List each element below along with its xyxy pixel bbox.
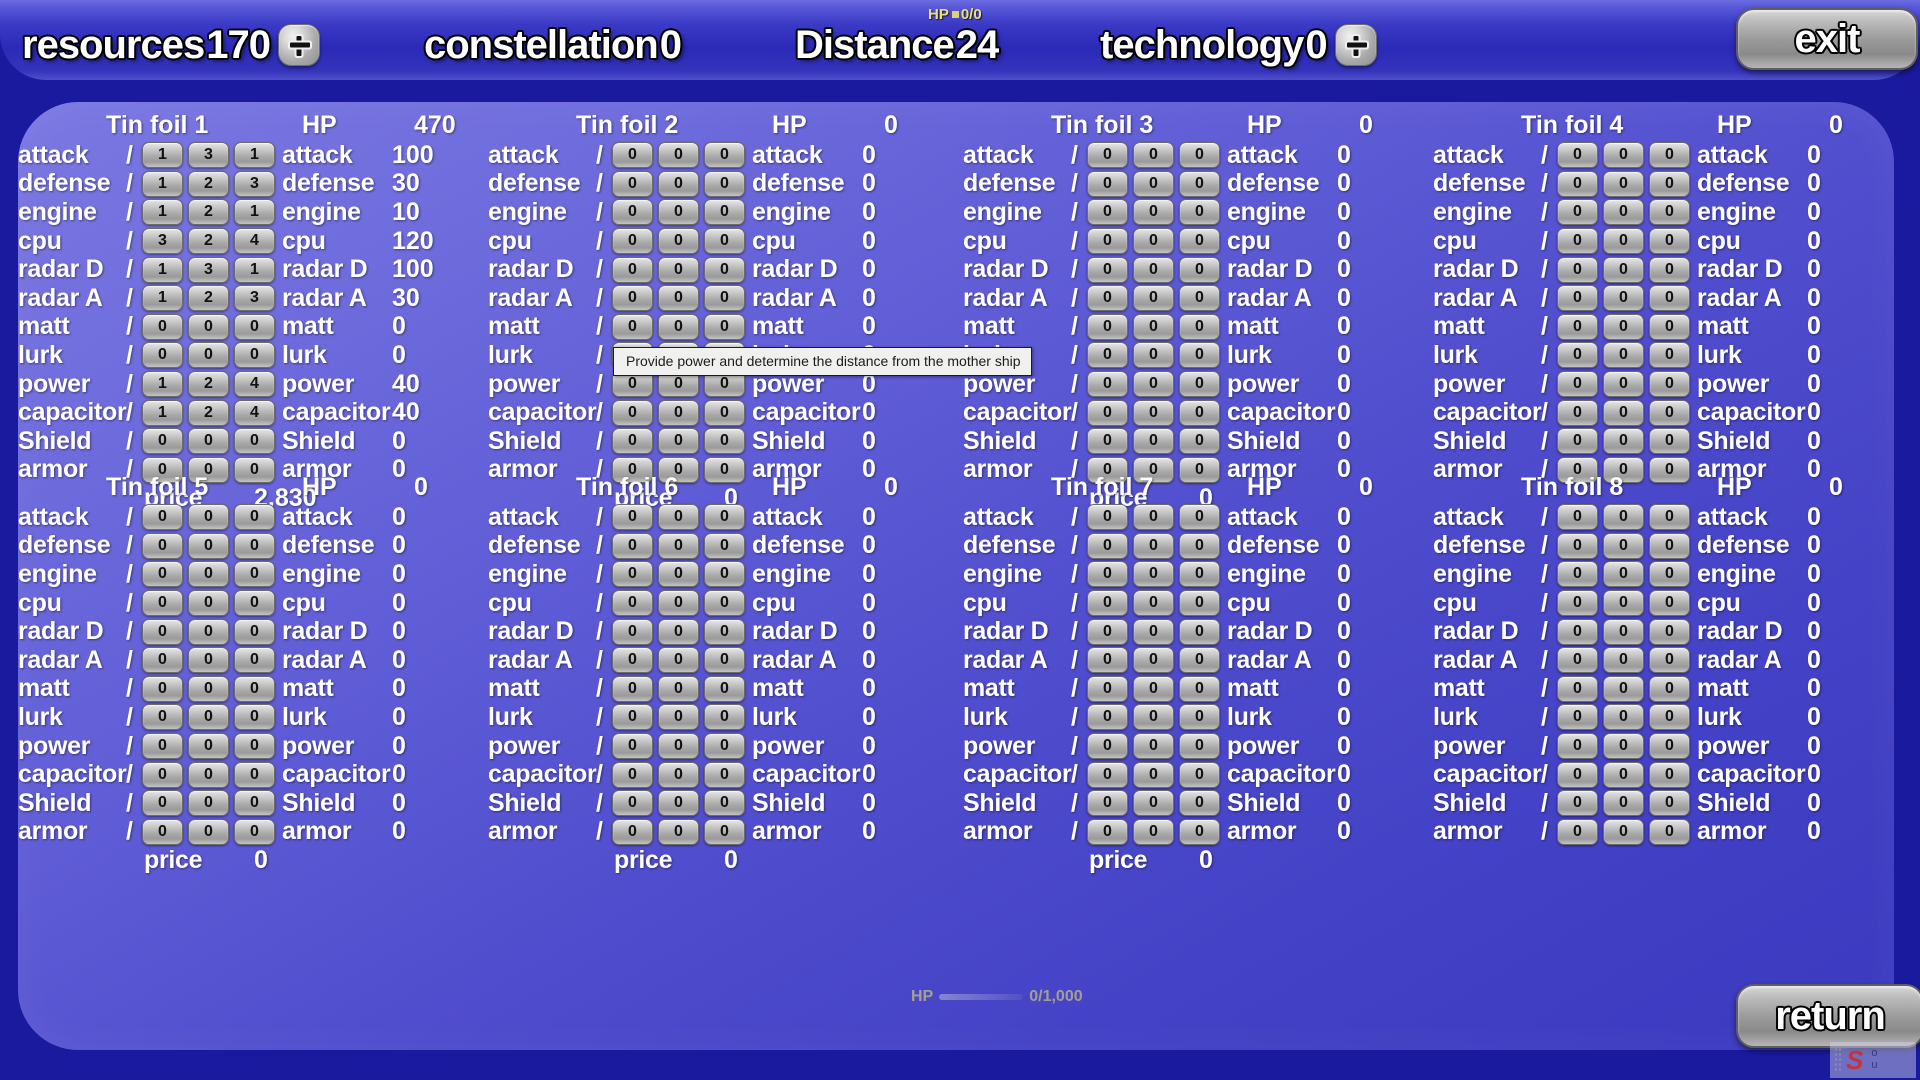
- ship-stat-chip[interactable]: 0: [658, 504, 699, 530]
- ship-stat-chip[interactable]: 0: [1603, 647, 1644, 673]
- ship-stat-chip[interactable]: 0: [142, 762, 183, 788]
- ship-stat-chip[interactable]: 0: [704, 533, 745, 559]
- ship-stat-chip[interactable]: 0: [1179, 733, 1220, 759]
- ship-stat-chip[interactable]: 0: [188, 533, 229, 559]
- ship-stat-chip[interactable]: 0: [1557, 533, 1598, 559]
- ship-stat-chip[interactable]: 1: [142, 171, 183, 197]
- ship-stat-chip[interactable]: 0: [1557, 428, 1598, 454]
- ship-stat-chip[interactable]: 0: [1649, 619, 1690, 645]
- ship-stat-chip[interactable]: 0: [1603, 428, 1644, 454]
- ship-stat-chip[interactable]: 0: [704, 619, 745, 645]
- ship-stat-chip[interactable]: 2: [188, 285, 229, 311]
- ship-stat-chip[interactable]: 0: [658, 400, 699, 426]
- ship-stat-chip[interactable]: 0: [1649, 314, 1690, 340]
- ship-stat-chip[interactable]: 1: [142, 371, 183, 397]
- ship-stat-chip[interactable]: 0: [188, 428, 229, 454]
- ship-stat-chip[interactable]: 0: [658, 533, 699, 559]
- ship-stat-chip[interactable]: 0: [612, 790, 653, 816]
- ship-stat-chip[interactable]: 1: [142, 285, 183, 311]
- ship-stat-chip[interactable]: 0: [612, 561, 653, 587]
- ship-stat-chip[interactable]: 0: [1087, 762, 1128, 788]
- ship-stat-chip[interactable]: 0: [658, 171, 699, 197]
- ship-stat-chip[interactable]: 1: [234, 199, 275, 225]
- ship-stat-chip[interactable]: 0: [612, 400, 653, 426]
- ship-stat-chip[interactable]: 0: [1133, 533, 1174, 559]
- ship-stat-chip[interactable]: 0: [612, 704, 653, 730]
- ship-stat-chip[interactable]: 0: [1179, 342, 1220, 368]
- ship-stat-chip[interactable]: 0: [142, 790, 183, 816]
- add-technology-button[interactable]: [1335, 24, 1377, 66]
- ship-stat-chip[interactable]: 4: [234, 400, 275, 426]
- ship-stat-chip[interactable]: 2: [188, 199, 229, 225]
- ship-stat-chip[interactable]: 0: [1603, 257, 1644, 283]
- ship-stat-chip[interactable]: 0: [704, 428, 745, 454]
- ship-stat-chip[interactable]: 0: [1179, 590, 1220, 616]
- ship-stat-chip[interactable]: 0: [1179, 676, 1220, 702]
- ship-stat-chip[interactable]: 0: [1649, 171, 1690, 197]
- ship-stat-chip[interactable]: 0: [1603, 199, 1644, 225]
- ship-stat-chip[interactable]: 0: [704, 790, 745, 816]
- ship-stat-chip[interactable]: 0: [704, 199, 745, 225]
- ship-summary-value: 0: [1807, 531, 1821, 560]
- ship-stat-chip[interactable]: 0: [1603, 790, 1644, 816]
- ship-stat-chip[interactable]: 0: [1087, 704, 1128, 730]
- ship-stat-chip[interactable]: 0: [142, 619, 183, 645]
- ship-stat-chip[interactable]: 0: [1557, 371, 1598, 397]
- ship-stat-chip[interactable]: 0: [1179, 285, 1220, 311]
- ship-stat-chip[interactable]: 0: [188, 561, 229, 587]
- ship-stat-chip[interactable]: 0: [188, 676, 229, 702]
- ship-stat-chip[interactable]: 0: [704, 647, 745, 673]
- ship-stat-chip[interactable]: 0: [1603, 819, 1644, 845]
- ship-stat-chip[interactable]: 0: [1133, 400, 1174, 426]
- ship-stat-chip[interactable]: 0: [1179, 371, 1220, 397]
- ship-stat-chip[interactable]: 0: [234, 619, 275, 645]
- ship-stat-chip[interactable]: 0: [234, 647, 275, 673]
- add-resources-button[interactable]: [278, 24, 320, 66]
- ship-stat-row: engine/000engine0: [18, 560, 478, 589]
- ship-stat-chip-group: 124: [142, 371, 280, 397]
- ship-stat-chip[interactable]: 0: [1603, 171, 1644, 197]
- ship-stat-chip[interactable]: 4: [234, 228, 275, 254]
- ship-stat-chip[interactable]: 0: [234, 733, 275, 759]
- ship-stat-chip[interactable]: 0: [612, 733, 653, 759]
- ship-stat-chip[interactable]: 0: [1179, 504, 1220, 530]
- ship-stat-chip[interactable]: 0: [1179, 561, 1220, 587]
- ship-stat-chip[interactable]: 0: [1603, 590, 1644, 616]
- ship-stat-chip[interactable]: 1: [142, 142, 183, 168]
- ship-stat-chip[interactable]: 0: [658, 142, 699, 168]
- ship-stat-chip[interactable]: 3: [234, 285, 275, 311]
- ship-stat-chip[interactable]: 0: [1557, 590, 1598, 616]
- ship-stat-chip[interactable]: 0: [188, 314, 229, 340]
- ship-stat-row: matt/000matt0: [1433, 313, 1893, 342]
- ship-stat-chip[interactable]: 0: [1087, 504, 1128, 530]
- ship-stat-chip[interactable]: 0: [1557, 762, 1598, 788]
- ship-stat-chip[interactable]: 0: [704, 142, 745, 168]
- ship-stat-chip[interactable]: 1: [142, 400, 183, 426]
- ship-stat-chip[interactable]: 0: [234, 314, 275, 340]
- ship-stat-chip[interactable]: 0: [658, 704, 699, 730]
- ship-stat-chip[interactable]: 0: [1649, 676, 1690, 702]
- ship-panel-grid: Tin foil 1HP470attack/131attack100defens…: [18, 102, 1894, 1050]
- ship-stat-chip[interactable]: 0: [142, 676, 183, 702]
- ship-stat-chip[interactable]: 0: [1133, 733, 1174, 759]
- ship-stat-chip[interactable]: 0: [1087, 400, 1128, 426]
- ship-stat-chip[interactable]: 0: [1557, 285, 1598, 311]
- ship-stat-name: radar D: [488, 255, 596, 284]
- ship-stat-chip[interactable]: 0: [1557, 171, 1598, 197]
- ship-stat-chip[interactable]: 0: [1603, 371, 1644, 397]
- ship-stat-chip[interactable]: 2: [188, 400, 229, 426]
- ship-stat-chip[interactable]: 0: [612, 285, 653, 311]
- ship-stat-chip[interactable]: 0: [1179, 704, 1220, 730]
- ship-stat-chip[interactable]: 0: [1087, 819, 1128, 845]
- ship-stat-chip[interactable]: 0: [658, 790, 699, 816]
- ship-panel-title: Tin foil 8: [1521, 472, 1717, 503]
- ship-stat-chip[interactable]: 0: [1087, 228, 1128, 254]
- ship-stat-chip[interactable]: 0: [142, 704, 183, 730]
- ship-stat-chip[interactable]: 0: [1087, 619, 1128, 645]
- ship-stat-chip[interactable]: 0: [1557, 504, 1598, 530]
- ship-stat-row: cpu/000cpu0: [963, 227, 1423, 256]
- ship-stat-chip[interactable]: 0: [1603, 704, 1644, 730]
- ship-stat-chip[interactable]: 0: [1649, 199, 1690, 225]
- ship-stat-chip[interactable]: 0: [1603, 733, 1644, 759]
- ship-stat-chip[interactable]: 3: [234, 171, 275, 197]
- ship-stat-chip[interactable]: 0: [1649, 371, 1690, 397]
- ship-stat-chip[interactable]: 0: [1603, 533, 1644, 559]
- ship-stat-chip[interactable]: 0: [1133, 228, 1174, 254]
- ship-stat-chip[interactable]: 2: [188, 371, 229, 397]
- ship-stat-chip[interactable]: 3: [142, 228, 183, 254]
- ship-stat-chip[interactable]: 0: [1603, 504, 1644, 530]
- ship-stat-chip[interactable]: 0: [704, 504, 745, 530]
- ship-stat-chip[interactable]: 0: [658, 590, 699, 616]
- ship-stat-chip[interactable]: 0: [1649, 647, 1690, 673]
- ship-stat-chip[interactable]: 0: [1603, 342, 1644, 368]
- ship-stat-chip[interactable]: 0: [1557, 142, 1598, 168]
- ship-stat-chip[interactable]: 0: [612, 428, 653, 454]
- ship-stat-chip[interactable]: 0: [658, 676, 699, 702]
- ship-stat-chip[interactable]: 0: [1087, 676, 1128, 702]
- exit-button[interactable]: exit: [1736, 8, 1918, 70]
- ship-stat-chip[interactable]: 0: [1557, 676, 1598, 702]
- ship-stat-chip[interactable]: 0: [1087, 533, 1128, 559]
- ship-stat-chip[interactable]: 0: [234, 790, 275, 816]
- ship-stat-chip[interactable]: 0: [234, 504, 275, 530]
- ship-summary-key: capacitor: [1225, 760, 1337, 789]
- ship-stat-chip[interactable]: 0: [612, 228, 653, 254]
- ship-stat-chip[interactable]: 0: [1087, 561, 1128, 587]
- ship-stat-chip[interactable]: 0: [1087, 285, 1128, 311]
- ship-stat-chip[interactable]: 0: [658, 228, 699, 254]
- ship-stat-chip[interactable]: 0: [1087, 590, 1128, 616]
- ship-stat-chip[interactable]: 0: [704, 733, 745, 759]
- ship-stat-chip[interactable]: 0: [188, 704, 229, 730]
- ship-stat-chip[interactable]: 0: [234, 762, 275, 788]
- ship-stat-chip[interactable]: 0: [612, 314, 653, 340]
- ship-stat-chip[interactable]: 0: [1557, 314, 1598, 340]
- ship-stat-chip[interactable]: 0: [1649, 533, 1690, 559]
- ship-stat-chip[interactable]: 0: [1649, 428, 1690, 454]
- ship-panel-header: Tin foil 7HP0: [963, 472, 1423, 503]
- ship-stat-chip[interactable]: 0: [1133, 619, 1174, 645]
- ship-stat-chip[interactable]: 0: [658, 733, 699, 759]
- ship-stat-chip[interactable]: 0: [704, 257, 745, 283]
- ship-stat-chip[interactable]: 0: [142, 733, 183, 759]
- ship-stat-chip[interactable]: 0: [1133, 285, 1174, 311]
- ship-stat-chip[interactable]: 0: [658, 257, 699, 283]
- ship-stat-chip[interactable]: 0: [1557, 228, 1598, 254]
- ship-stat-chip[interactable]: 0: [142, 504, 183, 530]
- ship-stat-chip[interactable]: 2: [188, 228, 229, 254]
- ship-stat-chip[interactable]: 0: [704, 400, 745, 426]
- ship-stat-chip[interactable]: 0: [612, 199, 653, 225]
- ship-stat-chip[interactable]: 1: [234, 257, 275, 283]
- ship-stat-chip[interactable]: 0: [1649, 257, 1690, 283]
- ship-stat-chip[interactable]: 0: [704, 676, 745, 702]
- ship-stat-chip[interactable]: 0: [1179, 428, 1220, 454]
- ship-stat-chip[interactable]: 0: [612, 504, 653, 530]
- ship-stat-chip[interactable]: 0: [1133, 257, 1174, 283]
- ship-stat-chip[interactable]: 0: [1557, 342, 1598, 368]
- return-button[interactable]: return: [1736, 984, 1920, 1048]
- ship-stat-chip[interactable]: 0: [704, 704, 745, 730]
- ship-stat-chip[interactable]: 0: [1133, 199, 1174, 225]
- ship-stat-chip[interactable]: 4: [234, 371, 275, 397]
- ship-stat-chip[interactable]: 3: [188, 142, 229, 168]
- stat-separator: /: [596, 560, 612, 589]
- ship-stat-chip[interactable]: 0: [1649, 285, 1690, 311]
- ship-stat-chip[interactable]: 0: [1649, 561, 1690, 587]
- ship-stat-chip[interactable]: 0: [1179, 533, 1220, 559]
- ship-stat-chip[interactable]: 0: [1133, 704, 1174, 730]
- ship-stat-chip[interactable]: 0: [188, 619, 229, 645]
- ship-stat-chip[interactable]: 0: [234, 428, 275, 454]
- ship-stat-chip[interactable]: 0: [234, 704, 275, 730]
- ship-stat-chip[interactable]: 0: [1649, 228, 1690, 254]
- ship-stat-chip[interactable]: 0: [1133, 819, 1174, 845]
- ship-summary-key: power: [1695, 370, 1807, 399]
- ship-stat-chip[interactable]: 0: [1133, 590, 1174, 616]
- ship-stat-chip[interactable]: 0: [1087, 790, 1128, 816]
- ship-stat-chip[interactable]: 0: [704, 285, 745, 311]
- ship-stat-chip[interactable]: 0: [1179, 257, 1220, 283]
- ship-stat-chip[interactable]: 0: [612, 533, 653, 559]
- ship-stat-chip[interactable]: 0: [234, 590, 275, 616]
- ship-stat-chip[interactable]: 0: [1133, 371, 1174, 397]
- ship-stat-chip[interactable]: 0: [704, 314, 745, 340]
- ship-stat-chip[interactable]: 0: [1649, 704, 1690, 730]
- ship-stat-chip[interactable]: 0: [142, 342, 183, 368]
- ship-stat-chip[interactable]: 0: [1603, 285, 1644, 311]
- ship-stat-chip[interactable]: 0: [1603, 619, 1644, 645]
- ship-stat-chip[interactable]: 0: [188, 342, 229, 368]
- ship-stat-chip[interactable]: 0: [658, 314, 699, 340]
- ship-stat-chip[interactable]: 0: [142, 819, 183, 845]
- ship-stat-chip[interactable]: 0: [612, 762, 653, 788]
- ship-stat-chip[interactable]: 0: [1133, 790, 1174, 816]
- ship-panel-header: Tin foil 4HP0: [1433, 110, 1893, 141]
- ship-stat-chip[interactable]: 0: [1649, 400, 1690, 426]
- ship-stat-chip[interactable]: 0: [1557, 647, 1598, 673]
- ship-stat-chip[interactable]: 0: [658, 561, 699, 587]
- ship-stat-chip[interactable]: 0: [1087, 199, 1128, 225]
- ship-stat-chip[interactable]: 0: [1133, 561, 1174, 587]
- ship-stat-chip[interactable]: 0: [1649, 342, 1690, 368]
- ship-stat-chip[interactable]: 0: [142, 533, 183, 559]
- ship-stat-chip[interactable]: 0: [1179, 619, 1220, 645]
- ship-stat-chip[interactable]: 0: [234, 819, 275, 845]
- ship-stat-chip[interactable]: 0: [1087, 342, 1128, 368]
- ship-stat-chip[interactable]: 0: [1649, 790, 1690, 816]
- ship-stat-chip[interactable]: 0: [1649, 733, 1690, 759]
- ship-stat-chip[interactable]: 0: [1557, 619, 1598, 645]
- ship-stat-chip[interactable]: 0: [1179, 171, 1220, 197]
- ship-stat-chip[interactable]: 0: [612, 590, 653, 616]
- ship-stat-chip[interactable]: 0: [704, 819, 745, 845]
- ship-stat-chip[interactable]: 0: [1087, 733, 1128, 759]
- ship-stat-chip[interactable]: 0: [658, 619, 699, 645]
- ship-stat-chip[interactable]: 0: [1087, 647, 1128, 673]
- ship-stat-chip[interactable]: 0: [188, 819, 229, 845]
- ship-stat-chip[interactable]: 0: [1557, 257, 1598, 283]
- ship-stat-chip[interactable]: 0: [612, 647, 653, 673]
- ship-stat-name: defense: [1433, 531, 1541, 560]
- ship-stat-chip[interactable]: 0: [1087, 257, 1128, 283]
- ship-stat-chip[interactable]: 3: [188, 257, 229, 283]
- ship-stat-chip[interactable]: 0: [1557, 704, 1598, 730]
- ship-stat-chip[interactable]: 0: [1557, 819, 1598, 845]
- ship-summary-key: cpu: [1695, 227, 1807, 256]
- ship-stat-chip[interactable]: 0: [142, 590, 183, 616]
- ship-stat-chip[interactable]: 0: [1087, 142, 1128, 168]
- ship-stat-chip[interactable]: 0: [658, 199, 699, 225]
- ship-stat-chip[interactable]: 0: [704, 171, 745, 197]
- ship-stat-chip[interactable]: 0: [142, 314, 183, 340]
- ship-stat-chip[interactable]: 0: [1179, 790, 1220, 816]
- ship-stat-chip[interactable]: 0: [1087, 314, 1128, 340]
- ship-stat-chip[interactable]: 0: [1603, 762, 1644, 788]
- ship-stat-chip[interactable]: 0: [1133, 142, 1174, 168]
- ship-stat-chip[interactable]: 0: [1133, 647, 1174, 673]
- ship-stat-chip[interactable]: 0: [612, 142, 653, 168]
- ship-stat-chip[interactable]: 0: [612, 257, 653, 283]
- ship-stat-chip[interactable]: 0: [612, 819, 653, 845]
- ship-stat-chip[interactable]: 0: [1557, 790, 1598, 816]
- ship-stat-chip[interactable]: 0: [1133, 342, 1174, 368]
- ship-stat-chip[interactable]: 0: [612, 676, 653, 702]
- ship-stat-chip[interactable]: 0: [1179, 314, 1220, 340]
- ship-stat-chip[interactable]: 0: [704, 561, 745, 587]
- ship-stat-chip[interactable]: 0: [1557, 733, 1598, 759]
- ship-stat-chip-group: 000: [142, 561, 280, 587]
- ship-stat-chip[interactable]: 2: [188, 171, 229, 197]
- ship-stat-row: Shield/000Shield0: [963, 427, 1423, 456]
- ship-stat-chip[interactable]: 0: [1557, 199, 1598, 225]
- ship-stat-chip[interactable]: 0: [1087, 171, 1128, 197]
- ship-summary-key: Shield: [750, 427, 862, 456]
- ship-stat-chip[interactable]: 0: [612, 171, 653, 197]
- ship-stat-chip[interactable]: 0: [1557, 400, 1598, 426]
- ship-stat-chip[interactable]: 0: [1557, 561, 1598, 587]
- ship-stat-chip[interactable]: 0: [1649, 142, 1690, 168]
- ship-stat-chip[interactable]: 0: [142, 428, 183, 454]
- ship-stat-chip[interactable]: 0: [234, 533, 275, 559]
- ship-stat-chip[interactable]: 0: [1603, 400, 1644, 426]
- ship-stat-chip-group: 000: [612, 647, 750, 673]
- ship-stat-chip[interactable]: 0: [1087, 428, 1128, 454]
- ship-stat-chip[interactable]: 0: [188, 733, 229, 759]
- ship-stat-chip[interactable]: 1: [142, 257, 183, 283]
- ship-stat-chip[interactable]: 0: [1603, 314, 1644, 340]
- ship-stat-chip[interactable]: 0: [1133, 314, 1174, 340]
- ship-stat-chip[interactable]: 0: [1649, 504, 1690, 530]
- ship-stat-chip[interactable]: 0: [142, 561, 183, 587]
- ship-stat-chip[interactable]: 0: [1179, 400, 1220, 426]
- ship-stat-chip[interactable]: 0: [188, 790, 229, 816]
- ship-stat-chip[interactable]: 0: [1603, 561, 1644, 587]
- ship-stat-chip[interactable]: 0: [1133, 504, 1174, 530]
- ship-stat-chip[interactable]: 0: [1603, 228, 1644, 254]
- ship-stat-chip-group: 121: [142, 199, 280, 225]
- ship-panel-title: Tin foil 2: [576, 110, 772, 141]
- ship-stat-chip[interactable]: 0: [1179, 142, 1220, 168]
- ship-stat-chip[interactable]: 0: [1179, 228, 1220, 254]
- ship-stat-chip[interactable]: 0: [1087, 371, 1128, 397]
- ship-stat-chip[interactable]: 0: [234, 676, 275, 702]
- ship-stat-chip[interactable]: 0: [658, 285, 699, 311]
- ship-stat-chip[interactable]: 0: [704, 228, 745, 254]
- ship-stat-chip[interactable]: 0: [188, 504, 229, 530]
- ship-stat-chip[interactable]: 0: [234, 342, 275, 368]
- ship-stat-chip[interactable]: 0: [1133, 428, 1174, 454]
- ship-stat-chip[interactable]: 0: [1603, 676, 1644, 702]
- ship-stat-chip[interactable]: 0: [1179, 762, 1220, 788]
- ship-stat-chip[interactable]: 0: [1133, 762, 1174, 788]
- ship-summary-key: radar A: [750, 646, 862, 675]
- ship-stat-chip[interactable]: 0: [188, 590, 229, 616]
- ship-stat-chip[interactable]: 0: [1179, 647, 1220, 673]
- ship-stat-chip[interactable]: 0: [188, 762, 229, 788]
- ship-stat-chip[interactable]: 0: [658, 428, 699, 454]
- ship-stat-chip[interactable]: 0: [188, 647, 229, 673]
- stat-separator: /: [1071, 674, 1087, 703]
- ship-stat-chip[interactable]: 0: [704, 590, 745, 616]
- ship-stat-chip[interactable]: 0: [612, 619, 653, 645]
- ship-stat-chip[interactable]: 0: [1649, 819, 1690, 845]
- ship-stat-chip[interactable]: 0: [1603, 142, 1644, 168]
- ship-stat-chip[interactable]: 1: [142, 199, 183, 225]
- ship-stat-chip[interactable]: 0: [234, 561, 275, 587]
- ship-stat-chip[interactable]: 0: [704, 762, 745, 788]
- stat-separator: /: [1071, 646, 1087, 675]
- ship-stat-chip[interactable]: 1: [234, 142, 275, 168]
- ship-stat-chip-group: 000: [1087, 533, 1225, 559]
- ship-stat-chip[interactable]: 0: [1649, 762, 1690, 788]
- ship-stat-chip[interactable]: 0: [658, 647, 699, 673]
- ship-stat-chip[interactable]: 0: [142, 647, 183, 673]
- ship-stat-chip-group: 000: [612, 142, 750, 168]
- ship-stat-chip[interactable]: 0: [1133, 676, 1174, 702]
- ship-stat-chip[interactable]: 0: [658, 762, 699, 788]
- ship-stat-chip[interactable]: 0: [1179, 819, 1220, 845]
- ship-stat-chip[interactable]: 0: [1133, 171, 1174, 197]
- ship-stat-chip[interactable]: 0: [658, 819, 699, 845]
- ship-stat-chip[interactable]: 0: [1179, 199, 1220, 225]
- ship-stat-chip[interactable]: 0: [1649, 590, 1690, 616]
